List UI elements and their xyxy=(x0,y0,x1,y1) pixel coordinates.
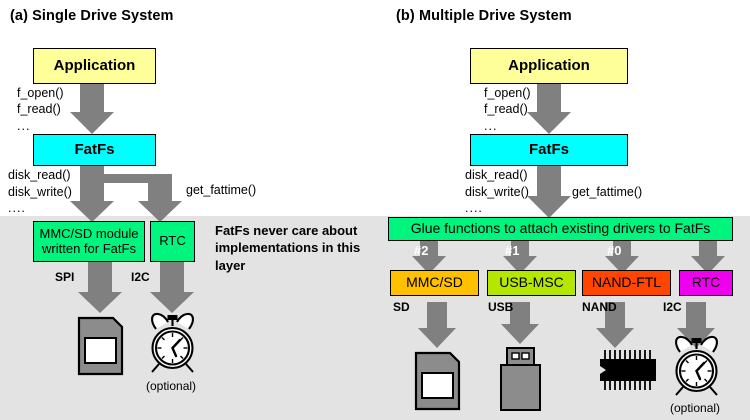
arrow-a-to-rtc xyxy=(138,174,182,222)
panel-b-label-f-read: f_read() xyxy=(484,102,528,116)
panel-a-label-optional: (optional) xyxy=(146,379,196,393)
arrow-b-fatfs-to-glue xyxy=(527,166,571,218)
panel-b-label-disk-read: disk_read() xyxy=(465,168,528,182)
panel-a-label-spi: SPI xyxy=(55,270,74,284)
panel-b-drive-number-1: #1 xyxy=(505,243,519,258)
panel-b-drive-number-2: #2 xyxy=(414,243,428,258)
panel-a-label-i2c: I2C xyxy=(131,270,150,284)
panel-a-title: (a) Single Drive System xyxy=(10,8,173,24)
panel-b-driver-box-nandftl[interactable]: NAND-FTL xyxy=(582,270,671,296)
panel-a-rtc-box[interactable]: RTC xyxy=(150,221,195,262)
panel-b-label-disk-write: disk_write() xyxy=(465,185,529,199)
arrow-a-app-to-fatfs xyxy=(70,84,114,134)
arrow-a-fatfs-trunk xyxy=(80,166,104,183)
panel-b-driver-box-rtc[interactable]: RTC xyxy=(679,270,733,296)
panel-b-label-app-ellipsis: ... xyxy=(484,119,497,133)
panel-b-title: (b) Multiple Drive System xyxy=(396,8,572,24)
panel-b-drive-number-0: #0 xyxy=(607,243,621,258)
panel-a-label-f-open: f_open() xyxy=(17,86,64,100)
panel-b-driver-box-mmcsd[interactable]: MMC/SD xyxy=(390,270,479,296)
panel-a-label-fatfs-ellipsis: .... xyxy=(8,201,26,215)
panel-a-mmc-module-line2: written for FatFs xyxy=(42,242,136,257)
arrow-a-branch-connector xyxy=(80,174,170,196)
panel-b-bus-label-nand: NAND xyxy=(582,300,617,314)
panel-b-driver-box-usbmsc[interactable]: USB-MSC xyxy=(487,270,576,296)
panel-a-application-box[interactable]: Application xyxy=(33,48,156,84)
panel-a-label-app-ellipsis: ... xyxy=(17,119,30,133)
panel-a-fatfs-box[interactable]: FatFs xyxy=(33,134,156,166)
panel-b-bus-label-i2c: I2C xyxy=(663,300,682,314)
panel-a-label-disk-read: disk_read() xyxy=(8,168,71,182)
panel-b-label-fatfs-ellipsis: .... xyxy=(465,201,483,215)
panel-b-bus-label-usb: USB xyxy=(488,300,513,314)
panel-b-label-f-open: f_open() xyxy=(484,86,531,100)
panel-a-note: FatFs never care about implementations i… xyxy=(215,222,365,274)
arrow-b-app-to-fatfs xyxy=(527,84,571,134)
panel-b-label-optional: (optional) xyxy=(670,401,720,415)
panel-a-label-disk-write: disk_write() xyxy=(8,185,72,199)
panel-a-mmc-module-box[interactable]: MMC/SD module written for FatFs xyxy=(33,221,145,262)
panel-b-label-get-fattime: get_fattime() xyxy=(572,185,642,199)
panel-b-application-box[interactable]: Application xyxy=(470,48,628,84)
panel-a-mmc-module-line1: MMC/SD module xyxy=(40,227,139,242)
panel-b-bus-label-sd: SD xyxy=(393,300,410,314)
panel-b-glue-box[interactable]: Glue functions to attach existing driver… xyxy=(388,217,733,241)
panel-b-fatfs-box[interactable]: FatFs xyxy=(470,134,628,166)
diagram-canvas: (a) Single Drive System Application f_op… xyxy=(0,0,750,420)
panel-a-label-f-read: f_read() xyxy=(17,102,61,116)
panel-a-label-get-fattime: get_fattime() xyxy=(186,183,256,197)
